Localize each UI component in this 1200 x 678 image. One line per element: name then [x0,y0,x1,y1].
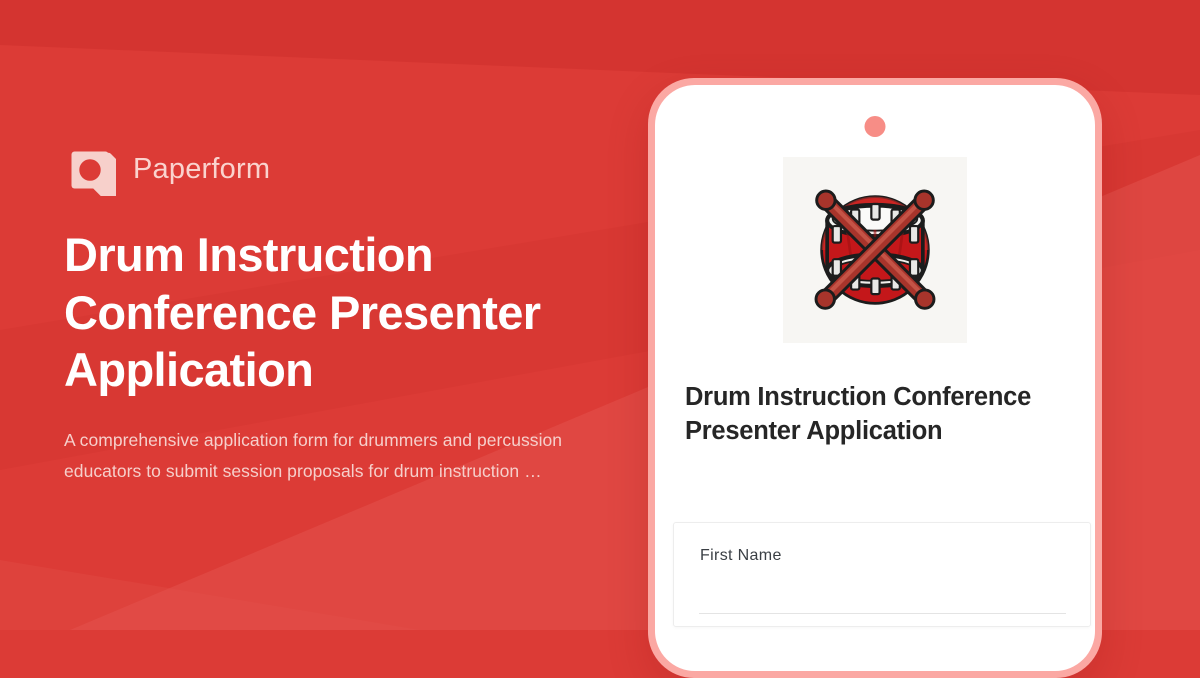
form-header-image [783,157,967,343]
hero-content: Paperform Drum Instruction Conference Pr… [64,0,644,630]
phone-mockup: Drum Instruction Conference Presenter Ap… [648,78,1102,678]
first-name-label: First Name [700,547,782,565]
form-field-card[interactable]: First Name [673,522,1091,627]
phone-screen: Drum Instruction Conference Presenter Ap… [655,85,1095,671]
paperform-logo-icon [64,144,116,196]
first-name-input[interactable] [699,613,1066,614]
page-subtitle: A comprehensive application form for dru… [64,425,564,486]
page-title: Drum Instruction Conference Presenter Ap… [64,226,609,399]
brand-name: Paperform [133,155,270,184]
form-title: Drum Instruction Conference Presenter Ap… [685,380,1045,449]
brand-lockup: Paperform [64,144,644,196]
front-camera-dot-icon [865,116,886,137]
